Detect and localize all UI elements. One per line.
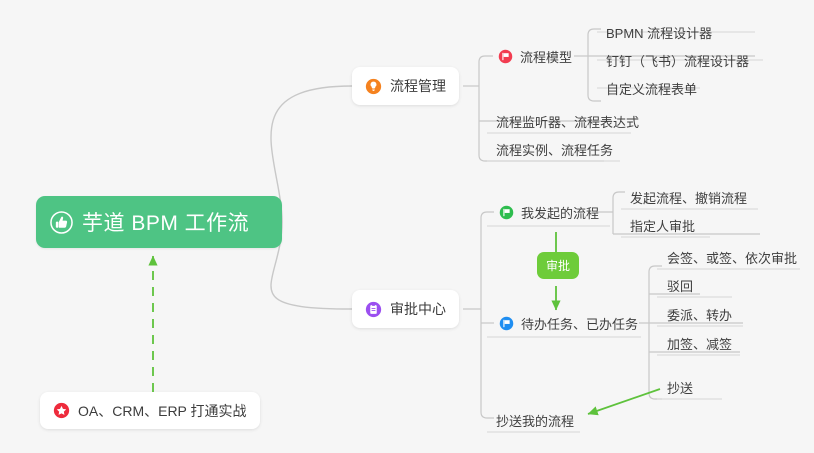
node-approval-center[interactable]: 审批中心 — [352, 290, 459, 328]
node-label: 自定义流程表单 — [606, 79, 697, 98]
node-dingtalk-feishu-designer[interactable]: 钉钉（飞书）流程设计器 — [601, 47, 755, 73]
flag-icon-red — [498, 49, 513, 64]
node-label: 待办任务、已办任务 — [521, 314, 638, 333]
node-label: 委派、转办 — [667, 305, 732, 324]
node-label: 指定人审批 — [630, 216, 695, 235]
node-label: 流程管理 — [390, 76, 446, 96]
node-bpmn-designer[interactable]: BPMN 流程设计器 — [601, 19, 718, 45]
node-label: 流程模型 — [520, 47, 572, 66]
node-process-listener[interactable]: 流程监听器、流程表达式 — [491, 108, 645, 134]
node-assignee-approval[interactable]: 指定人审批 — [625, 212, 701, 238]
node-cc-to-me-process[interactable]: 抄送我的流程 — [491, 407, 580, 433]
node-label: 流程实例、流程任务 — [496, 140, 613, 159]
node-add-remove-sign[interactable]: 加签、减签 — [662, 330, 738, 356]
node-process-management[interactable]: 流程管理 — [352, 67, 459, 105]
node-label: 加签、减签 — [667, 334, 732, 353]
node-label: 驳回 — [667, 276, 693, 295]
node-process-instance[interactable]: 流程实例、流程任务 — [491, 136, 619, 162]
node-label: OA、CRM、ERP 打通实战 — [78, 401, 247, 421]
node-delegate-transfer[interactable]: 委派、转办 — [662, 301, 738, 327]
root-node[interactable]: 芋道 BPM 工作流 — [36, 196, 282, 248]
node-todo-done-tasks[interactable]: 待办任务、已办任务 — [494, 310, 644, 336]
node-label: 钉钉（飞书）流程设计器 — [606, 51, 749, 70]
node-label: 发起流程、撤销流程 — [630, 188, 747, 207]
node-integration-note[interactable]: OA、CRM、ERP 打通实战 — [40, 392, 260, 429]
root-label: 芋道 BPM 工作流 — [82, 207, 249, 237]
flag-icon-blue — [499, 316, 514, 331]
node-label: 抄送我的流程 — [496, 411, 574, 430]
mindmap-canvas: 芋道 BPM 工作流 流程管理 流程模型 BPMN 流程设计器 钉钉（飞书 — [0, 0, 814, 453]
node-process-model[interactable]: 流程模型 — [493, 43, 578, 69]
thumbs-up-icon — [50, 211, 73, 234]
node-label: 我发起的流程 — [521, 203, 599, 222]
tag-label: 审批 — [546, 257, 570, 274]
node-reject[interactable]: 驳回 — [662, 272, 699, 298]
approval-tag-badge[interactable]: 审批 — [537, 252, 579, 279]
node-label: 流程监听器、流程表达式 — [496, 112, 639, 131]
star-icon — [53, 402, 70, 419]
flag-icon-green — [499, 205, 514, 220]
node-label: BPMN 流程设计器 — [606, 23, 712, 42]
node-cc[interactable]: 抄送 — [662, 374, 699, 400]
node-countersign[interactable]: 会签、或签、依次审批 — [662, 244, 803, 270]
clipboard-icon — [365, 301, 382, 318]
node-label: 抄送 — [667, 378, 693, 397]
node-label: 会签、或签、依次审批 — [667, 248, 797, 267]
lightbulb-icon — [365, 78, 382, 95]
node-my-initiated-process[interactable]: 我发起的流程 — [494, 199, 605, 225]
node-start-cancel-process[interactable]: 发起流程、撤销流程 — [625, 184, 753, 210]
node-label: 审批中心 — [390, 299, 446, 319]
node-custom-process-form[interactable]: 自定义流程表单 — [601, 75, 703, 101]
